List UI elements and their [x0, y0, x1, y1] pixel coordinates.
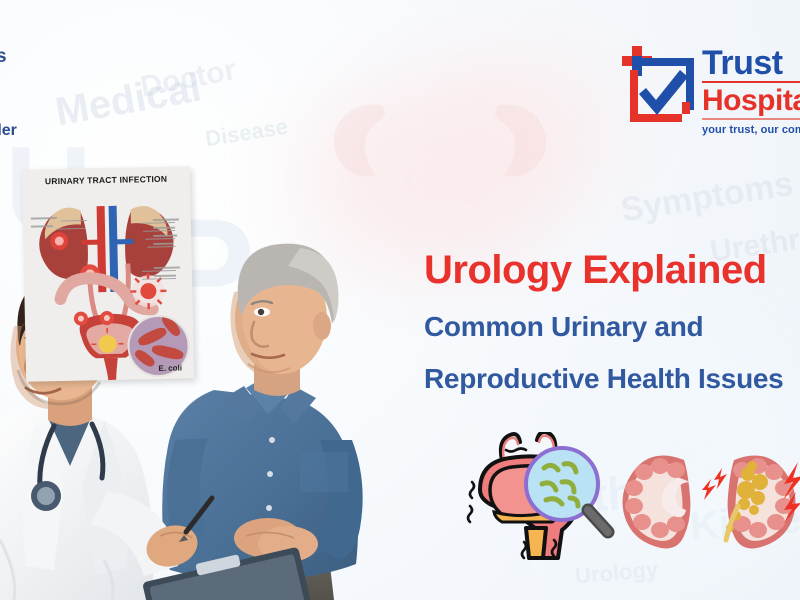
logo-name-bottom: Hospital — [702, 85, 800, 117]
hospital-logo[interactable]: Trust Hospital your trust, our commitmen… — [620, 36, 800, 152]
logo-divider — [702, 118, 800, 120]
edge-text-fragment-mid: der — [0, 122, 17, 140]
edge-text-fragment-top: s — [0, 46, 7, 68]
uti-poster: URINARY TRACT INFECTION — [22, 166, 194, 381]
checkbox-cross-icon — [620, 44, 698, 126]
watermark-symptoms: Symptoms — [618, 165, 796, 231]
watermark-doctor: Doctor — [138, 53, 239, 105]
bladder-icon — [458, 432, 618, 564]
logo-name-top: Trust — [702, 46, 800, 80]
logo-tagline: your trust, our commitment — [702, 124, 800, 136]
kidneys-stones-illustration — [618, 444, 800, 550]
subtitle-line-1: Common Urinary and — [424, 308, 800, 346]
headline-block: Urology Explained Common Urinary and Rep… — [424, 246, 800, 398]
ghost-kidney-shape — [470, 95, 560, 185]
hero-banner: U P Doctor Medical Disease Symptoms Uret… — [0, 0, 800, 600]
bladder-magnifier-illustration — [458, 432, 618, 564]
watermark-medical: Medical — [52, 66, 204, 136]
subtitle-line-2: Reproductive Health Issues — [424, 360, 800, 398]
ecoli-label: E. coli — [158, 363, 182, 372]
background-blob — [430, 40, 630, 210]
kidneys-icon — [618, 444, 800, 550]
page-title: Urology Explained — [424, 246, 800, 294]
logo-wordmark: Trust Hospital your trust, our commitmen… — [702, 46, 800, 136]
